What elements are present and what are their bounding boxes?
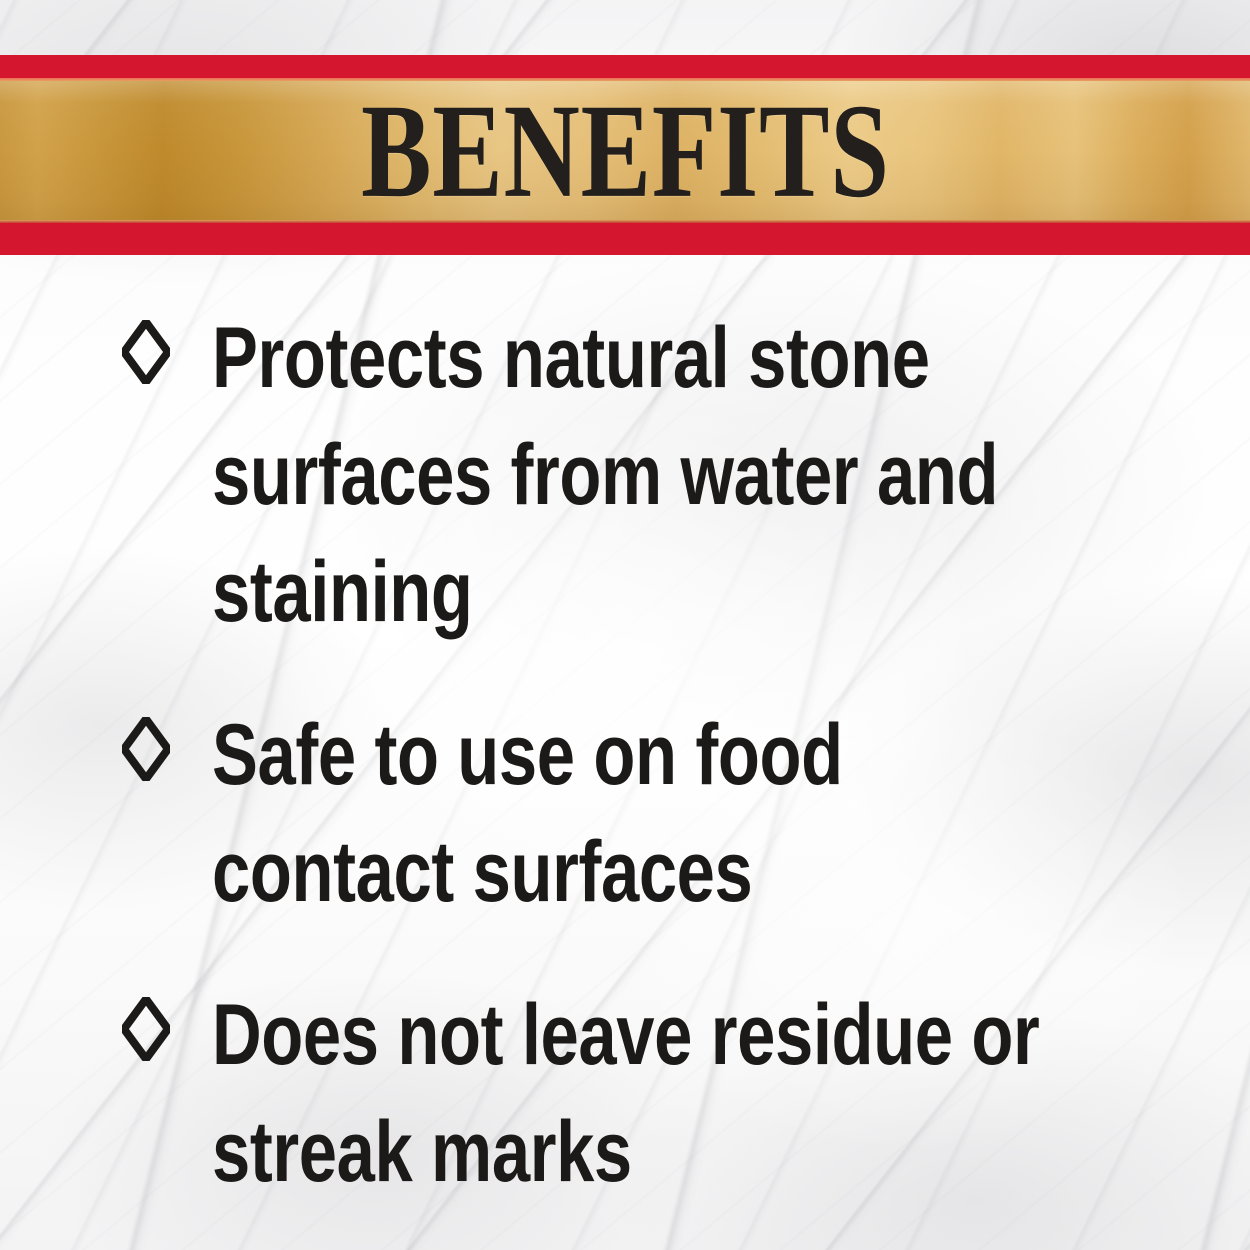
benefit-text: Safe to use on food contact surfaces xyxy=(212,697,972,931)
diamond-bullet-icon xyxy=(122,320,170,384)
banner-red-stripe-bottom xyxy=(0,223,1250,255)
benefit-text: Does not leave residue or streak marks xyxy=(212,977,1084,1211)
diamond-bullet-icon xyxy=(122,717,170,781)
benefit-text: Protects natural stone surfaces from wat… xyxy=(212,300,1132,651)
diamond-bullet-icon xyxy=(122,997,170,1061)
benefits-list: Protects natural stone surfaces from wat… xyxy=(0,300,1250,1211)
page-title-text: BENEFITS xyxy=(361,83,890,218)
list-item: Safe to use on food contact surfaces xyxy=(0,697,1250,931)
list-item: Does not leave residue or streak marks xyxy=(0,977,1250,1211)
header-banner: BENEFITS xyxy=(0,55,1250,255)
page-title: BENEFITS xyxy=(0,81,1250,220)
list-item: Protects natural stone surfaces from wat… xyxy=(0,300,1250,651)
benefits-panel: BENEFITS Protects natural stone surfaces… xyxy=(0,0,1250,1250)
